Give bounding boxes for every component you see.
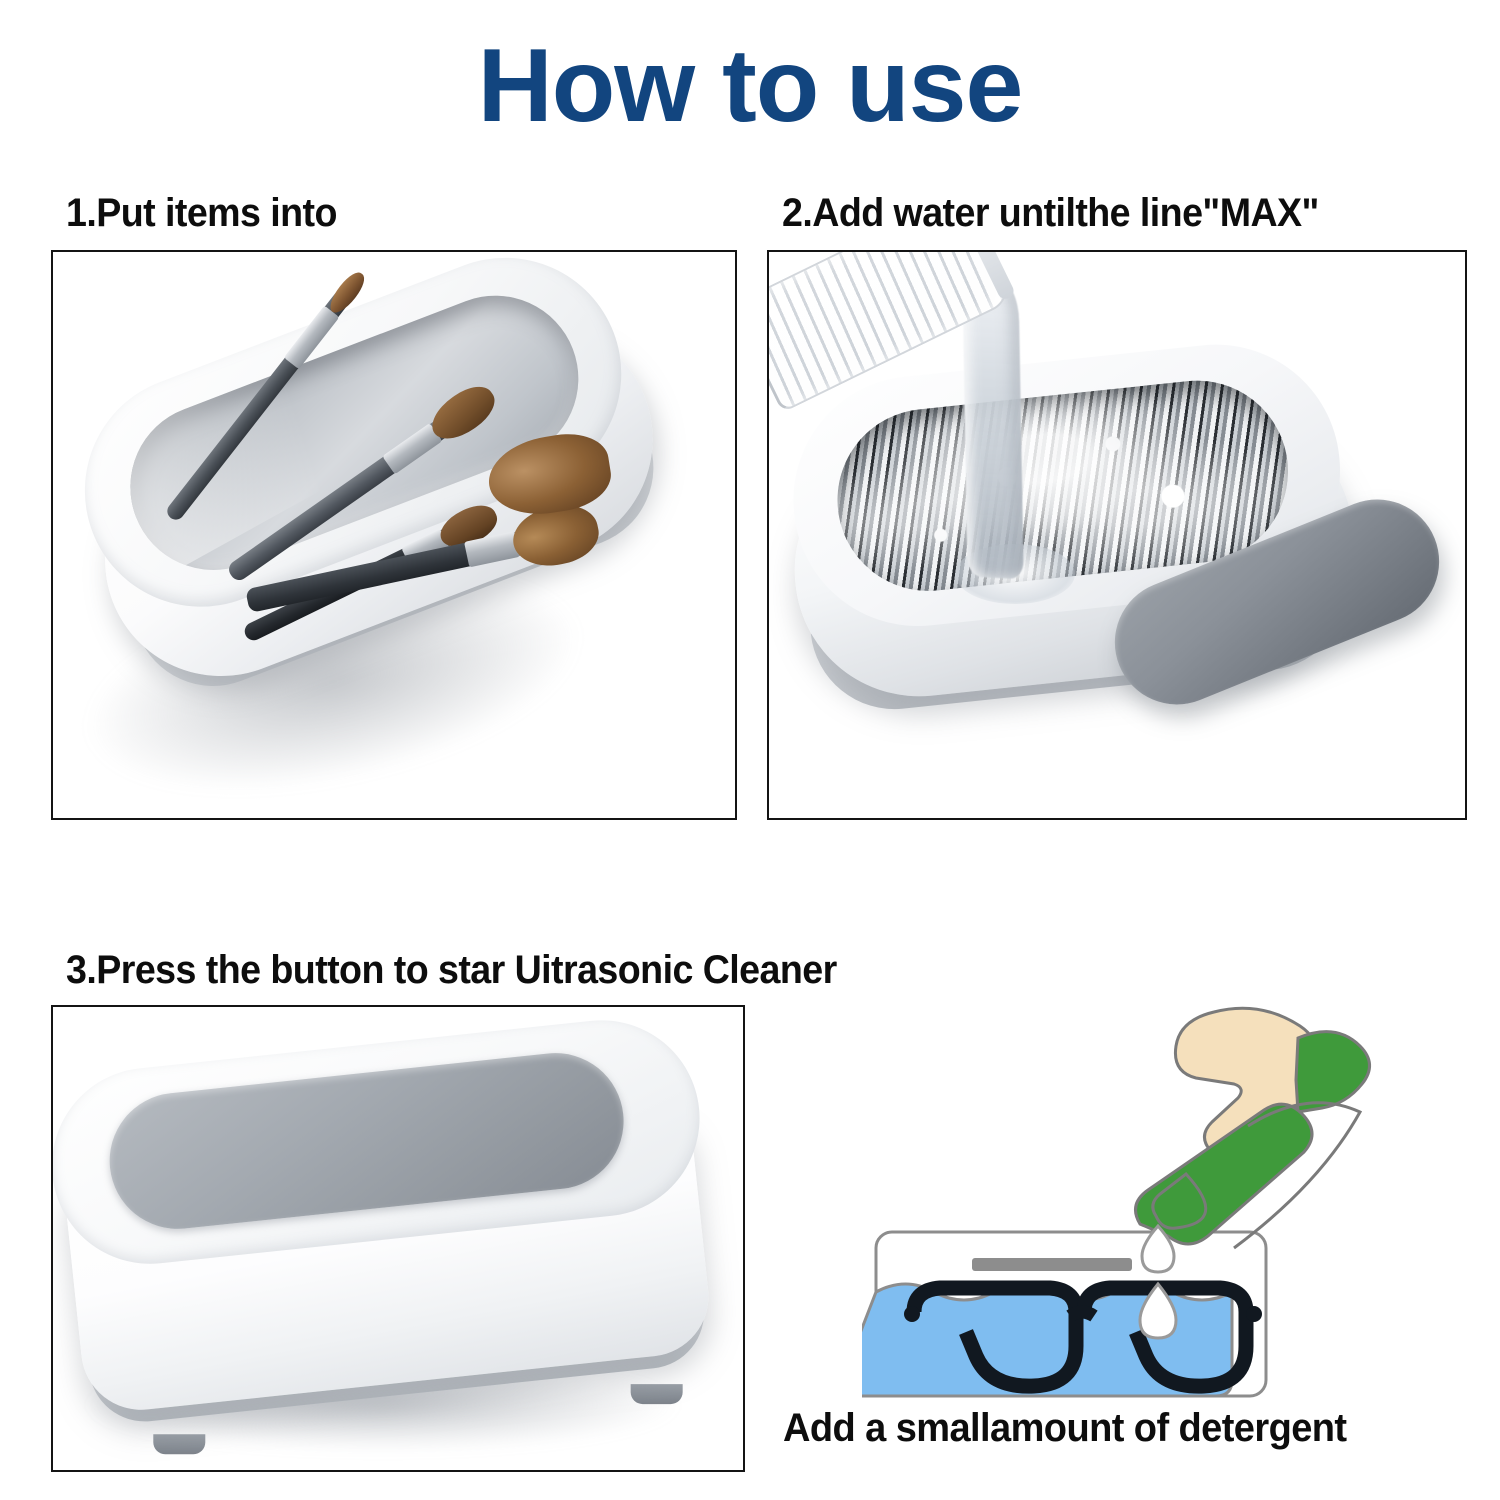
page-title: How to use	[0, 28, 1500, 144]
step-2-image-panel	[767, 250, 1467, 820]
cleaner-foot	[153, 1434, 205, 1454]
detergent-caption: Add a smallamount of detergent	[783, 1408, 1347, 1448]
max-line-marker	[972, 1258, 1132, 1271]
detergent-illustration	[862, 1002, 1482, 1402]
step-3-illustration	[53, 1007, 743, 1470]
step-1-heading: 1.Put items into	[66, 193, 337, 233]
water-stream	[962, 277, 1023, 580]
ultrasonic-cleaner-closed	[51, 1010, 740, 1469]
cleaner-foot	[631, 1384, 683, 1404]
bottle-cap	[1296, 1032, 1370, 1112]
step-3-heading: 3.Press the button to star Uitrasonic Cl…	[66, 950, 837, 990]
step-1-illustration	[53, 252, 735, 818]
infographic-page: How to use 1.Put items into 2.Add water …	[0, 0, 1500, 1500]
step-1-image-panel	[51, 250, 737, 820]
step-2-heading: 2.Add water untilthe line"MAX"	[782, 193, 1319, 233]
step-3-image-panel	[51, 1005, 745, 1472]
step-2-illustration	[769, 252, 1465, 818]
